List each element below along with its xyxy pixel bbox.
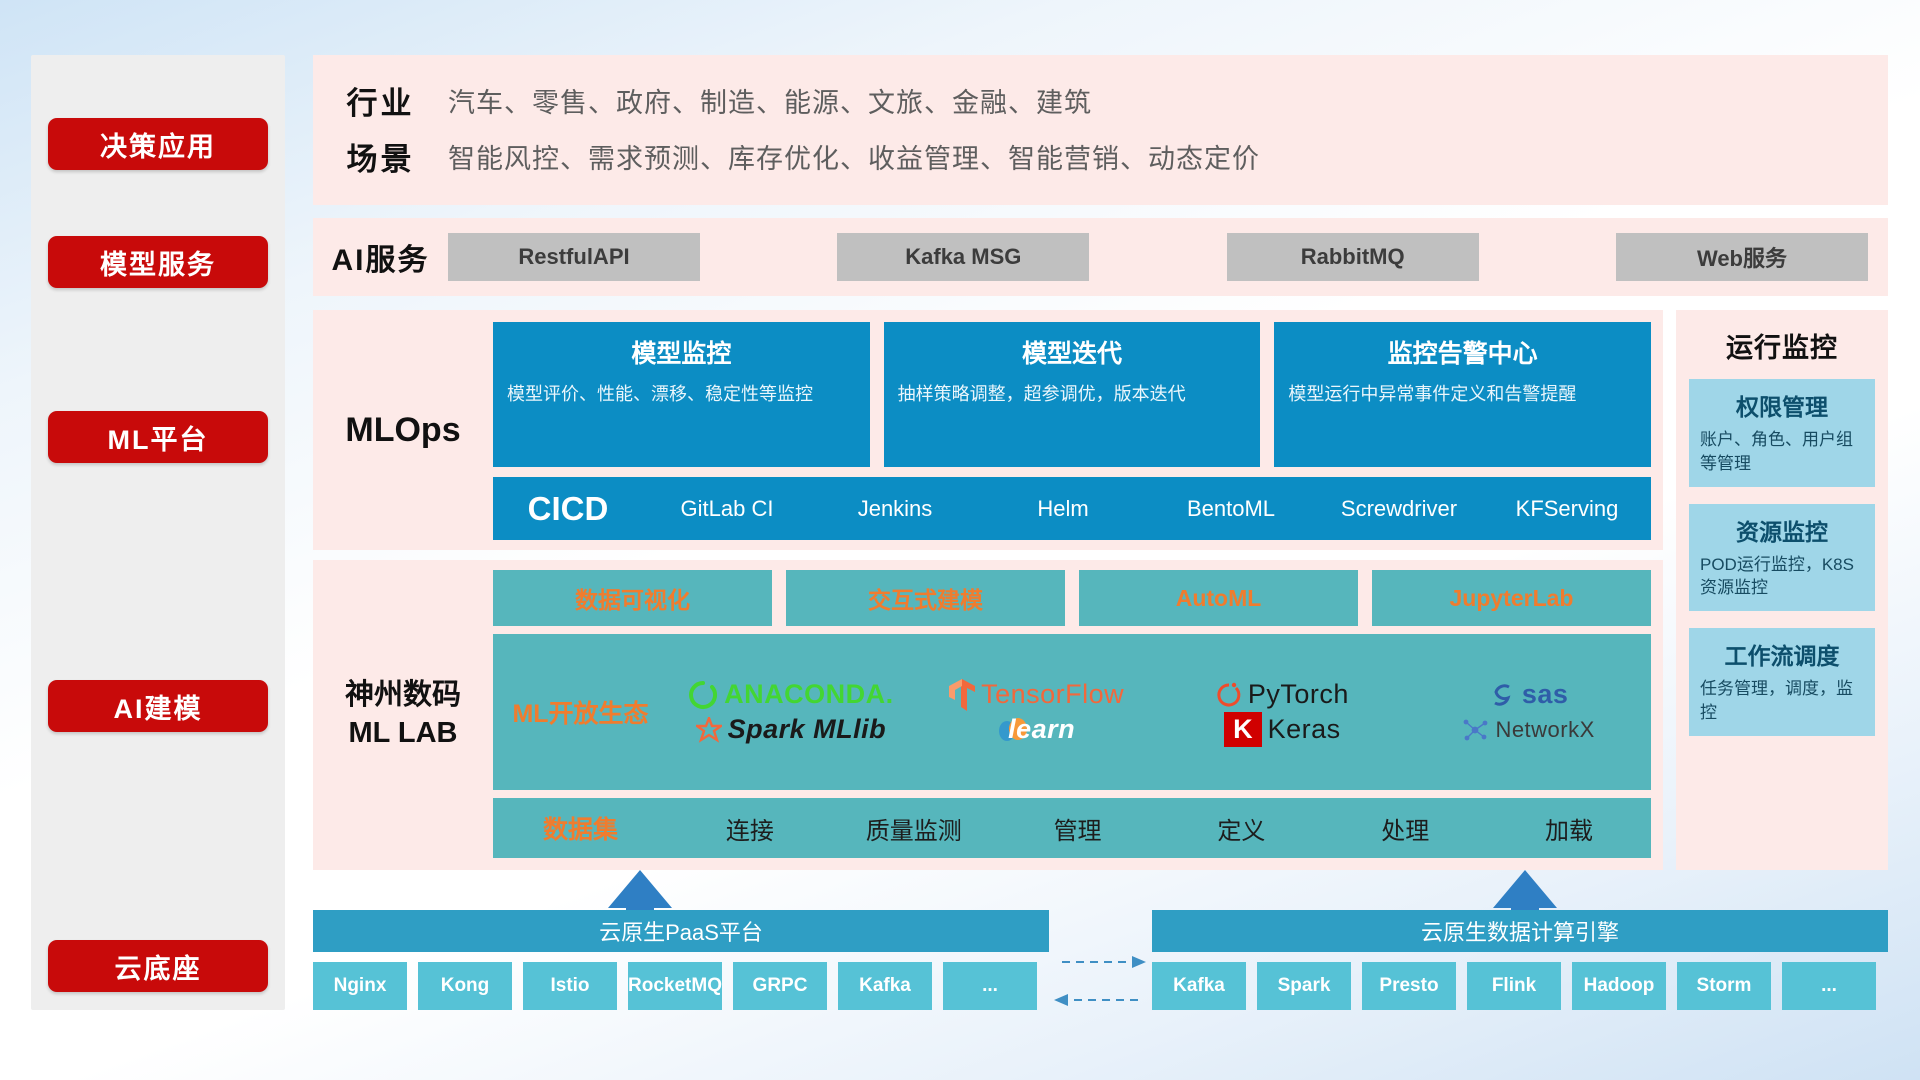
cloud-chip[interactable]: GRPC xyxy=(733,962,827,1010)
cloud-chip[interactable]: Spark xyxy=(1257,962,1351,1010)
cloud-chip[interactable]: ... xyxy=(1782,962,1876,1010)
tensorflow-logo-text: TensorFlow xyxy=(981,679,1124,710)
monitor-card-desc: POD运行监控，K8S资源监控 xyxy=(1700,553,1864,601)
monitor-card-desc: 任务管理，调度，监控 xyxy=(1700,677,1864,725)
cicd-item[interactable]: KFServing xyxy=(1483,498,1651,520)
ml-tool-chip[interactable]: 交互式建模 xyxy=(786,570,1065,626)
scikit-learn-logo-text: learn xyxy=(1008,714,1075,745)
diagram-canvas: 决策应用 模型服务 ML平台 AI建模 云底座 行业 汽车、零售、政府、制造、能… xyxy=(0,0,1920,1080)
keras-icon: K xyxy=(1224,712,1262,747)
monitor-card-desc: 账户、角色、用户组等管理 xyxy=(1700,428,1864,476)
cloud-chip[interactable]: Hadoop xyxy=(1572,962,1666,1010)
runtime-monitor-panel: 运行监控 权限管理 账户、角色、用户组等管理 资源监控 POD运行监控，K8S资… xyxy=(1676,310,1888,870)
ai-service-chip[interactable]: RestfulAPI xyxy=(448,233,700,281)
mlops-card[interactable]: 模型监控 模型评价、性能、漂移、稳定性等监控 xyxy=(493,322,870,467)
cloud-chip[interactable]: Kafka xyxy=(1152,962,1246,1010)
sidebar-item-label: 模型服务 xyxy=(100,243,216,282)
networkx-logo: NetworkX xyxy=(1461,716,1594,744)
industry-row: 行业 汽车、零售、政府、制造、能源、文旅、金融、建筑 xyxy=(313,75,1888,125)
scenario-row: 场景 智能风控、需求预测、库存优化、收益管理、智能营销、动态定价 xyxy=(313,131,1888,181)
cloud-data-title: 云原生数据计算引擎 xyxy=(1421,915,1619,947)
cicd-bar: CICD GitLab CI Jenkins Helm BentoML Scre… xyxy=(493,477,1651,540)
ai-service-chip[interactable]: Kafka MSG xyxy=(837,233,1089,281)
cicd-item[interactable]: BentoML xyxy=(1147,498,1315,520)
scikit-learn-logo: learn xyxy=(998,714,1075,745)
cloud-chip[interactable]: Presto xyxy=(1362,962,1456,1010)
left-layer-rail: 决策应用 模型服务 ML平台 AI建模 云底座 xyxy=(31,55,285,1010)
dataset-item[interactable]: 管理 xyxy=(996,811,1160,846)
mlops-key: MLOps xyxy=(313,310,493,550)
mlops-card-title: 监控告警中心 xyxy=(1288,334,1637,370)
dataset-row: 数据集 连接 质量监测 管理 定义 处理 加载 xyxy=(493,798,1651,858)
cloud-chip[interactable]: Kong xyxy=(418,962,512,1010)
monitor-card[interactable]: 资源监控 POD运行监控，K8S资源监控 xyxy=(1689,504,1875,612)
ml-lab-key: 神州数码 ML LAB xyxy=(313,560,493,870)
ml-ecosystem-band: ML开放生态 ANACONDA. xyxy=(493,634,1651,790)
anaconda-logo-text: ANACONDA. xyxy=(724,679,894,710)
monitor-card-title: 资源监控 xyxy=(1700,513,1864,547)
dataset-item[interactable]: 处理 xyxy=(1323,811,1487,846)
pytorch-logo: PyTorch xyxy=(1216,679,1349,710)
monitor-card[interactable]: 权限管理 账户、角色、用户组等管理 xyxy=(1689,379,1875,487)
spark-mllib-logo-text: Spark MLlib xyxy=(728,714,887,745)
dataset-item[interactable]: 定义 xyxy=(1159,811,1323,846)
sas-icon xyxy=(1488,681,1516,709)
ml-lab-key-line1: 神州数码 xyxy=(345,677,461,715)
networkx-icon xyxy=(1461,716,1489,744)
pytorch-logo-text: PyTorch xyxy=(1248,679,1349,710)
cicd-item[interactable]: Helm xyxy=(979,498,1147,520)
cloud-chip[interactable]: Storm xyxy=(1677,962,1771,1010)
ml-tool-chip[interactable]: AutoML xyxy=(1079,570,1358,626)
ai-service-chip[interactable]: Web服务 xyxy=(1616,233,1868,281)
ml-tool-chip[interactable]: JupyterLab xyxy=(1372,570,1651,626)
ai-service-key: AI服务 xyxy=(313,235,448,279)
dashed-arrow-left-icon xyxy=(1054,994,1068,1006)
pytorch-icon xyxy=(1216,680,1242,710)
decision-app-panel: 行业 汽车、零售、政府、制造、能源、文旅、金融、建筑 场景 智能风控、需求预测、… xyxy=(313,55,1888,205)
mlops-card[interactable]: 模型迭代 抽样策略调整，超参调优，版本迭代 xyxy=(884,322,1261,467)
mlops-card-title: 模型迭代 xyxy=(898,334,1247,370)
cicd-item[interactable]: Screwdriver xyxy=(1315,498,1483,520)
monitor-card[interactable]: 工作流调度 任务管理，调度，监控 xyxy=(1689,628,1875,736)
sidebar-item-ml-platform[interactable]: ML平台 xyxy=(48,411,268,463)
keras-logo-text: Keras xyxy=(1268,714,1341,745)
cicd-item[interactable]: Jenkins xyxy=(811,498,979,520)
sidebar-item-decision-app[interactable]: 决策应用 xyxy=(48,118,268,170)
dataset-label: 数据集 xyxy=(493,810,668,846)
sas-logo: sas xyxy=(1488,679,1569,710)
industry-value: 汽车、零售、政府、制造、能源、文旅、金融、建筑 xyxy=(448,81,1092,120)
ai-service-panel: AI服务 RestfulAPI Kafka MSG RabbitMQ Web服务 xyxy=(313,218,1888,296)
scenario-value: 智能风控、需求预测、库存优化、收益管理、智能营销、动态定价 xyxy=(448,137,1260,176)
sidebar-item-label: ML平台 xyxy=(108,418,209,457)
ai-service-chip[interactable]: RabbitMQ xyxy=(1227,233,1479,281)
sidebar-item-cloud-base[interactable]: 云底座 xyxy=(48,940,268,992)
anaconda-icon xyxy=(688,680,718,710)
networkx-logo-text: NetworkX xyxy=(1495,717,1594,743)
monitor-card-title: 权限管理 xyxy=(1700,388,1864,422)
sidebar-item-label: 云底座 xyxy=(115,947,202,986)
ml-ecosystem-label: ML开放生态 xyxy=(493,694,668,730)
cloud-paas-bar[interactable]: 云原生PaaS平台 xyxy=(313,910,1049,952)
cloud-paas-chip-group: Nginx Kong Istio RocketMQ GRPC Kafka ... xyxy=(313,962,1037,1010)
cloud-paas-title: 云原生PaaS平台 xyxy=(599,915,763,947)
scenario-key: 场景 xyxy=(313,134,448,179)
ml-lab-panel: 神州数码 ML LAB 数据可视化 交互式建模 AutoML JupyterLa… xyxy=(313,560,1663,870)
monitor-card-title: 工作流调度 xyxy=(1700,637,1864,671)
cloud-chip[interactable]: Nginx xyxy=(313,962,407,1010)
ml-tool-chip[interactable]: 数据可视化 xyxy=(493,570,772,626)
cicd-item[interactable]: GitLab CI xyxy=(643,498,811,520)
ml-lab-key-line2: ML LAB xyxy=(348,715,457,753)
sidebar-item-label: 决策应用 xyxy=(100,125,216,164)
mlops-card[interactable]: 监控告警中心 模型运行中异常事件定义和告警提醒 xyxy=(1274,322,1651,467)
cloud-data-chip-group: Kafka Spark Presto Flink Hadoop Storm ..… xyxy=(1152,962,1876,1010)
industry-key: 行业 xyxy=(313,78,448,123)
mlops-card-desc: 抽样策略调整，超参调优，版本迭代 xyxy=(898,382,1247,408)
cloud-chip[interactable]: ... xyxy=(943,962,1037,1010)
mlops-card-desc: 模型运行中异常事件定义和告警提醒 xyxy=(1288,382,1637,408)
mlops-panel: MLOps 模型监控 模型评价、性能、漂移、稳定性等监控 模型迭代 抽样策略调整… xyxy=(313,310,1663,550)
cloud-chip[interactable]: RocketMQ xyxy=(628,962,722,1010)
sidebar-item-label: AI建模 xyxy=(114,687,203,726)
anaconda-logo: ANACONDA. xyxy=(688,679,894,710)
sidebar-item-model-service[interactable]: 模型服务 xyxy=(48,236,268,288)
runtime-monitor-title: 运行监控 xyxy=(1676,310,1888,379)
mlops-card-title: 模型监控 xyxy=(507,334,856,370)
cloud-chip[interactable]: Flink xyxy=(1467,962,1561,1010)
dataset-item[interactable]: 质量监测 xyxy=(832,811,996,846)
dashed-arrow-right-icon xyxy=(1132,956,1146,968)
dataset-item[interactable]: 加载 xyxy=(1487,811,1651,846)
cloud-chip[interactable]: Istio xyxy=(523,962,617,1010)
cloud-chip[interactable]: Kafka xyxy=(838,962,932,1010)
spark-mllib-logo: Spark MLlib xyxy=(696,714,887,745)
sidebar-item-ai-modeling[interactable]: AI建模 xyxy=(48,680,268,732)
tensorflow-logo: TensorFlow xyxy=(949,679,1124,711)
keras-logo: K Keras xyxy=(1224,712,1341,747)
sas-logo-text: sas xyxy=(1522,679,1569,710)
ai-service-chip-group: RestfulAPI Kafka MSG RabbitMQ Web服务 xyxy=(448,233,1888,281)
tensorflow-icon xyxy=(949,679,975,711)
mlops-card-desc: 模型评价、性能、漂移、稳定性等监控 xyxy=(507,382,856,408)
dataset-item[interactable]: 连接 xyxy=(668,811,832,846)
ml-tool-group: 数据可视化 交互式建模 AutoML JupyterLab xyxy=(493,570,1651,626)
cloud-data-bar[interactable]: 云原生数据计算引擎 xyxy=(1152,910,1888,952)
mlops-card-group: 模型监控 模型评价、性能、漂移、稳定性等监控 模型迭代 抽样策略调整，超参调优，… xyxy=(493,322,1651,467)
spark-star-icon xyxy=(696,717,722,743)
cicd-label: CICD xyxy=(493,490,643,528)
